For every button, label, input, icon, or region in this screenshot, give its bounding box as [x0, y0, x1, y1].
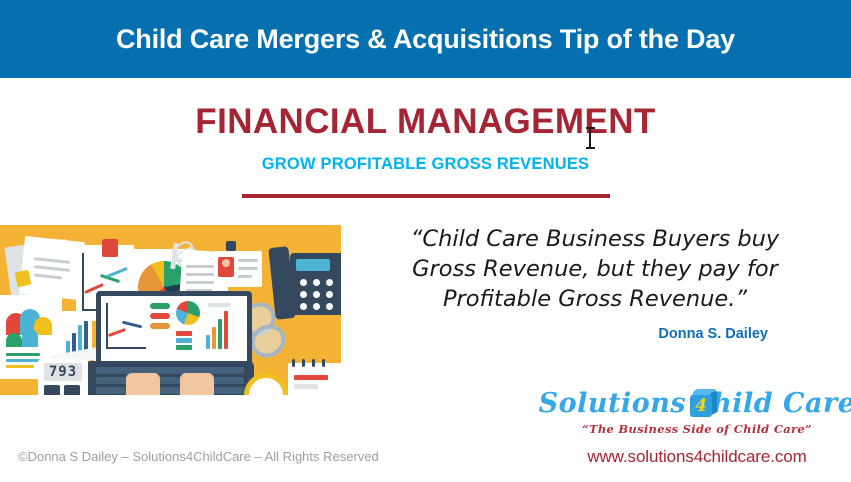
chart-shape	[224, 311, 228, 349]
business-desk-illustration: 793	[0, 225, 341, 395]
spiral-binding	[292, 359, 295, 367]
phone-key	[326, 291, 333, 298]
website-url[interactable]: www.solutions4childcare.com	[552, 447, 842, 467]
pie-chart-icon	[176, 301, 200, 325]
quote-line-3: Profitable Gross Revenue.”	[360, 284, 830, 314]
chart-shape	[208, 303, 230, 307]
phone-key	[313, 303, 320, 310]
quote-author: Donna S. Dailey	[360, 326, 830, 342]
spiral-binding	[312, 359, 315, 367]
badge-photo-head	[222, 259, 230, 267]
laptop-key	[96, 367, 244, 374]
chart-axis	[106, 303, 108, 349]
quote-block: “Child Care Business Buyers buy Gross Re…	[360, 224, 830, 342]
chart-shape	[218, 319, 222, 349]
phone-key	[326, 303, 333, 310]
chart-line	[6, 353, 40, 356]
chart-shape	[176, 338, 192, 343]
chart-shape	[6, 333, 22, 347]
chart-shape	[206, 335, 210, 349]
chart-shape	[176, 331, 192, 336]
chart-shape	[150, 323, 170, 329]
laptop-key	[96, 387, 244, 394]
binder-clip-icon	[15, 270, 32, 288]
main-heading: FINANCIAL MANAGEMENT	[0, 104, 851, 141]
laptop-key	[96, 377, 244, 384]
phone-key	[326, 279, 333, 286]
phone-key	[300, 303, 307, 310]
chart-shape	[176, 345, 192, 350]
chart-line	[6, 365, 34, 368]
phone-key	[300, 279, 307, 286]
phone-display	[296, 259, 330, 271]
chart-axis	[106, 347, 146, 349]
chart-shape	[294, 375, 328, 380]
header-band: Child Care Mergers & Acquisitions Tip of…	[0, 0, 851, 78]
calculator-display: 793	[44, 363, 82, 381]
chart-shape	[294, 384, 318, 389]
logo-wordmark: Solutions 4 Child Care	[552, 386, 842, 420]
phone-key	[313, 279, 320, 286]
chart-shape	[22, 329, 38, 347]
chart-shape	[212, 327, 216, 349]
quote-line-2: Gross Revenue, but they pay for	[360, 254, 830, 284]
cube-number: 4	[690, 395, 712, 417]
badge-line	[238, 275, 252, 278]
title-block: FINANCIAL MANAGEMENT GROW PROFITABLE GRO…	[0, 78, 851, 201]
hand-icon	[180, 373, 214, 395]
chart-shape	[150, 313, 170, 319]
binder-clip-icon	[102, 239, 118, 257]
chart-shape	[150, 303, 170, 309]
heading-divider	[242, 194, 610, 198]
badge-clip-icon	[226, 241, 236, 251]
phone-key	[300, 291, 307, 298]
chart-axis	[82, 253, 84, 311]
badge-line	[238, 259, 258, 262]
quote-line-1: “Child Care Business Buyers buy	[360, 224, 830, 254]
calculator-key	[64, 385, 80, 395]
spiral-binding	[322, 359, 325, 367]
copyright-notice: ©Donna S Dailey – Solutions4ChildCare – …	[18, 449, 379, 464]
phone-key	[313, 291, 320, 298]
calculator-key	[44, 385, 60, 395]
hand-icon	[126, 373, 160, 395]
page-title: Child Care Mergers & Acquisitions Tip of…	[116, 24, 735, 55]
logo-word-left: Solutions	[539, 388, 686, 419]
brand-logo[interactable]: Solutions 4 Child Care “The Business Sid…	[552, 386, 842, 467]
spiral-binding	[302, 359, 305, 367]
logo-tagline: “The Business Side of Child Care”	[552, 422, 842, 436]
sub-heading: GROW PROFITABLE GROSS REVENUES	[0, 155, 851, 174]
badge-line	[238, 267, 258, 270]
divider-wrap	[0, 191, 851, 201]
